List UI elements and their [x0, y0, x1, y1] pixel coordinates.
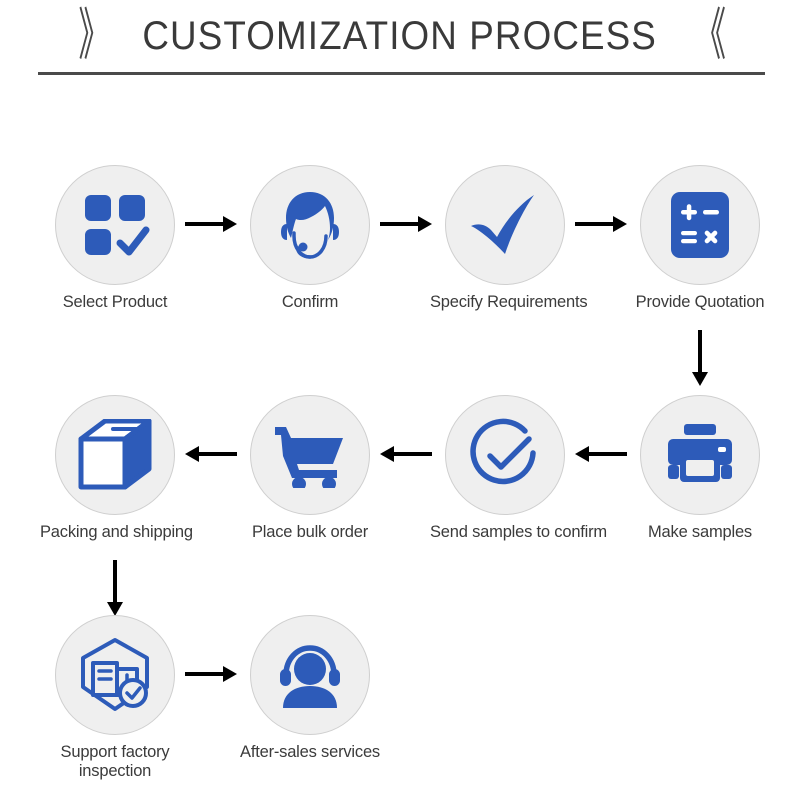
flow-step-specify-requirements[interactable]: Specify Requirements [430, 165, 580, 312]
flow-step-packing-and-shipping[interactable]: Packing and shipping [40, 395, 190, 542]
step-label: Select Product [40, 293, 190, 312]
flow-step-send-samples-to-confirm[interactable]: Send samples to confirm [430, 395, 580, 542]
arrow-down-right [686, 330, 714, 386]
step-label: Packing and shipping [40, 523, 190, 542]
flow-step-after-sales-services[interactable]: After-sales services [235, 615, 385, 762]
arrow-left-2 [380, 442, 432, 466]
step-circle [55, 615, 175, 735]
step-label: After-sales services [235, 743, 385, 762]
step-label: Provide Quotation [625, 293, 775, 312]
chevron-right-icon: 》 [79, 8, 106, 64]
flow-step-provide-quotation[interactable]: Provide Quotation [625, 165, 775, 312]
step-circle [250, 615, 370, 735]
headphones-person-icon [274, 642, 346, 708]
page-header: 》 CUSTOMIZATION PROCESS 《 [0, 0, 800, 95]
grid-check-icon [80, 190, 150, 260]
step-circle [250, 165, 370, 285]
package-box-icon [77, 419, 153, 491]
check-circle-icon [467, 417, 543, 493]
flow-step-support-factory-inspection[interactable]: Support factory inspection [40, 615, 190, 781]
factory-inspection-shield-icon [77, 637, 153, 713]
flow-step-confirm[interactable]: Confirm [235, 165, 385, 312]
flow-step-make-samples[interactable]: Make samples [625, 395, 775, 542]
step-circle [250, 395, 370, 515]
printer-icon [664, 422, 736, 488]
step-circle [640, 165, 760, 285]
flow-step-place-bulk-order[interactable]: Place bulk order [235, 395, 385, 542]
title-row: 》 CUSTOMIZATION PROCESS 《 [0, 8, 800, 64]
step-circle [55, 395, 175, 515]
step-circle [445, 395, 565, 515]
support-agent-headset-icon [273, 188, 347, 262]
arrow-right-2 [380, 212, 432, 236]
title-divider [38, 72, 765, 75]
step-circle [445, 165, 565, 285]
step-label: Specify Requirements [430, 293, 580, 312]
arrow-right-4 [185, 662, 237, 686]
arrow-down-left [101, 560, 129, 616]
step-circle [55, 165, 175, 285]
chevron-left-icon: 《 [694, 8, 721, 64]
shopping-cart-icon [273, 422, 347, 488]
arrow-left-1 [575, 442, 627, 466]
step-label: Confirm [235, 293, 385, 312]
checkmark-icon [468, 190, 542, 260]
page-title: CUSTOMIZATION PROCESS [143, 16, 658, 56]
arrow-right-3 [575, 212, 627, 236]
step-label: Support factory inspection [40, 743, 190, 781]
flow-step-select-product[interactable]: Select Product [40, 165, 190, 312]
arrow-right-1 [185, 212, 237, 236]
calculator-icon [669, 190, 731, 260]
step-label: Make samples [625, 523, 775, 542]
step-label: Place bulk order [235, 523, 385, 542]
step-circle [640, 395, 760, 515]
arrow-left-3 [185, 442, 237, 466]
step-label: Send samples to confirm [430, 523, 580, 542]
